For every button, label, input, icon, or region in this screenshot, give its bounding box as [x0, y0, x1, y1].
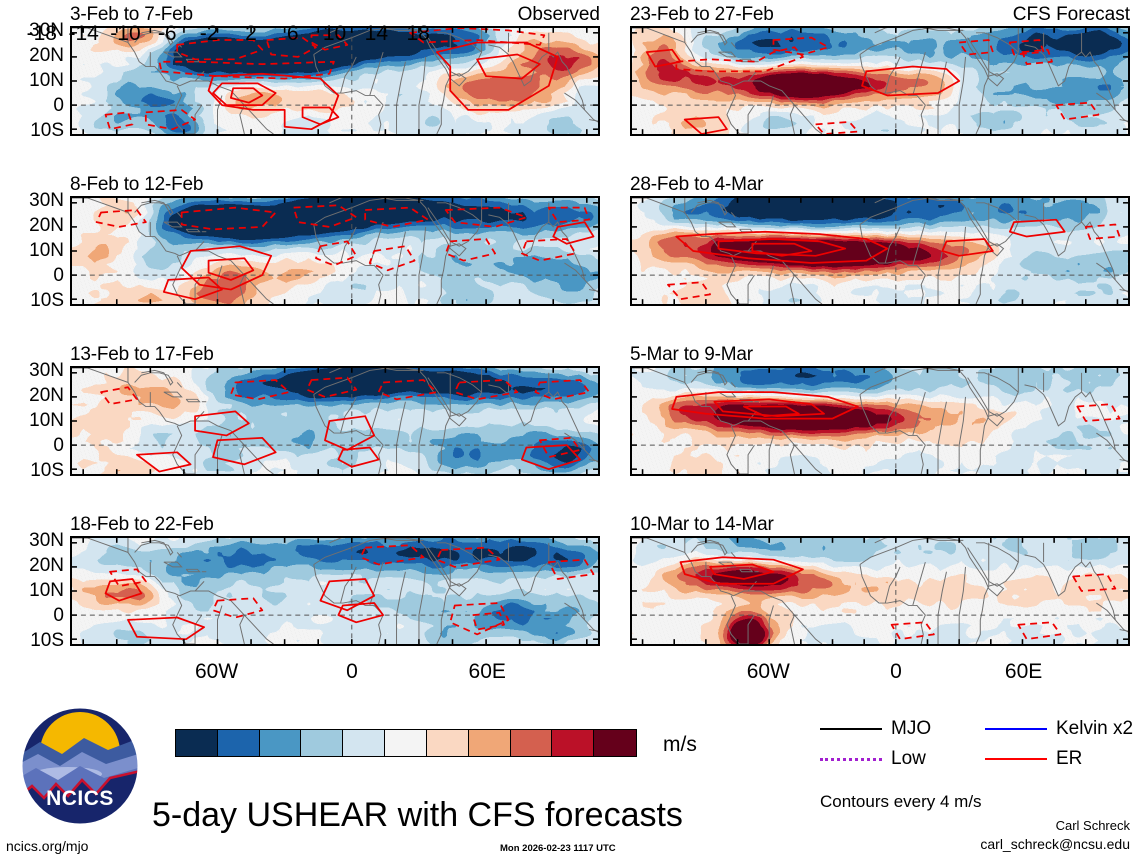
column-header-left: Observed [518, 4, 600, 26]
y-tick-label: 30N [29, 190, 64, 212]
colorbar-tick-label: -10 [110, 22, 140, 46]
author-email: carl_schreck@ncsu.edu [935, 836, 1130, 852]
panel-title-2: 13-Feb to 17-Feb [70, 344, 214, 366]
y-tick-label: 10N [29, 70, 64, 92]
colorbar-swatch-3 [301, 730, 343, 756]
y-tick-label: 10N [29, 580, 64, 602]
colorbar-tick-label: 2 [245, 22, 257, 46]
contour-interval-note: Contours every 4 m/s [820, 792, 982, 812]
y-axis-labels-2: 30N20N10N010S [8, 366, 64, 476]
panel-title-6: 5-Mar to 9-Mar [630, 344, 753, 366]
tick-layer-7 [632, 538, 1128, 644]
legend-line-icon [985, 758, 1047, 760]
map-frame-5 [630, 196, 1130, 306]
colorbar-tick-label: -14 [68, 22, 98, 46]
colorbar-tick-label: -18 [27, 22, 57, 46]
site-url: ncics.org/mjo [6, 838, 88, 854]
colorbar-swatch-9 [552, 730, 594, 756]
y-tick-label: 10N [29, 240, 64, 262]
panel-title-4: 23-Feb to 27-Feb [630, 4, 774, 26]
tick-layer-1 [72, 198, 598, 304]
colorbar-tick-label: -2 [200, 22, 219, 46]
tick-layer-5 [632, 198, 1128, 304]
y-tick-label: 10S [30, 290, 64, 312]
y-tick-label: 10N [29, 410, 64, 432]
tick-layer-4 [632, 28, 1128, 134]
colorbar-tick-label: 10 [323, 22, 346, 46]
y-tick-label: 20N [29, 385, 64, 407]
y-tick-label: 0 [53, 605, 64, 627]
map-frame-4 [630, 26, 1130, 136]
map-frame-7 [630, 536, 1130, 646]
colorbar-swatch-4 [343, 730, 385, 756]
x-tick-label: 60E [1005, 660, 1042, 684]
colorbar-swatch-2 [260, 730, 302, 756]
legend-label: ER [1056, 748, 1082, 770]
y-tick-label: 0 [53, 435, 64, 457]
y-tick-label: 20N [29, 215, 64, 237]
figure-timestamp: Mon 2026-02-23 1117 UTC [500, 843, 616, 854]
map-panel-4: 23-Feb to 27-FebCFS Forecast [630, 26, 1130, 136]
y-tick-label: 30N [29, 360, 64, 382]
x-tick-label: 60W [747, 660, 790, 684]
colorbar-swatch-10 [594, 730, 636, 756]
x-tick-label: 0 [346, 660, 358, 684]
map-frame-1 [70, 196, 600, 306]
panel-title-7: 10-Mar to 14-Mar [630, 514, 774, 536]
x-tick-label: 60E [469, 660, 506, 684]
x-tick-label: 0 [890, 660, 902, 684]
colorbar-tick-label: -6 [158, 22, 177, 46]
map-panel-6: 5-Mar to 9-Mar [630, 366, 1130, 476]
colorbar-swatch-0 [176, 730, 218, 756]
colorbar-tick-label: 6 [287, 22, 299, 46]
colorbar-swatch-6 [427, 730, 469, 756]
panel-title-1: 8-Feb to 12-Feb [70, 174, 203, 196]
colorbar-tick-label: 18 [406, 22, 429, 46]
map-panel-1: 8-Feb to 12-Feb [70, 196, 600, 306]
y-tick-label: 10S [30, 120, 64, 142]
x-tick-label: 60W [195, 660, 238, 684]
y-tick-label: 0 [53, 265, 64, 287]
panel-title-3: 18-Feb to 22-Feb [70, 514, 214, 536]
svg-text:NCICS: NCICS [46, 787, 114, 810]
y-axis-labels-3: 30N20N10N010S [8, 536, 64, 646]
colorbar-swatch-1 [218, 730, 260, 756]
map-panel-7: 10-Mar to 14-Mar [630, 536, 1130, 646]
legend-item-er: ER [985, 748, 1082, 770]
y-tick-label: 20N [29, 555, 64, 577]
legend-line-icon [985, 728, 1047, 730]
panel-title-5: 28-Feb to 4-Mar [630, 174, 763, 196]
ncics-logo-icon: NCICS [20, 706, 140, 826]
colorbar [175, 729, 637, 757]
map-panel-3: 18-Feb to 22-Feb [70, 536, 600, 646]
colorbar-swatch-7 [469, 730, 511, 756]
column-header-right: CFS Forecast [1013, 4, 1130, 26]
legend-item-mjo: MJO [820, 718, 931, 740]
y-tick-label: 30N [29, 530, 64, 552]
author-name: Carl Schreck [935, 818, 1130, 833]
colorbar-swatch-5 [385, 730, 427, 756]
y-tick-label: 10S [30, 630, 64, 652]
colorbar-units-label: m/s [663, 733, 697, 757]
map-panel-2: 13-Feb to 17-Feb [70, 366, 600, 476]
legend-item-low: Low [820, 748, 926, 770]
colorbar-tick-label: 14 [365, 22, 388, 46]
legend-label: Low [891, 748, 926, 770]
tick-layer-3 [72, 538, 598, 644]
legend-line-icon [820, 758, 882, 761]
figure-title: 5-day USHEAR with CFS forecasts [152, 796, 683, 835]
tick-layer-2 [72, 368, 598, 474]
map-frame-3 [70, 536, 600, 646]
tick-layer-6 [632, 368, 1128, 474]
legend-label: MJO [891, 718, 931, 740]
y-tick-label: 0 [53, 95, 64, 117]
legend-item-kelvin-x2: Kelvin x2 [985, 718, 1133, 740]
colorbar-swatch-8 [511, 730, 553, 756]
ncics-logo: NCICS [20, 706, 140, 831]
map-panel-5: 28-Feb to 4-Mar [630, 196, 1130, 306]
y-tick-label: 10S [30, 460, 64, 482]
legend-line-icon [820, 728, 882, 730]
y-axis-labels-1: 30N20N10N010S [8, 196, 64, 306]
legend-label: Kelvin x2 [1056, 718, 1133, 740]
y-tick-label: 20N [29, 45, 64, 67]
map-frame-2 [70, 366, 600, 476]
map-frame-6 [630, 366, 1130, 476]
